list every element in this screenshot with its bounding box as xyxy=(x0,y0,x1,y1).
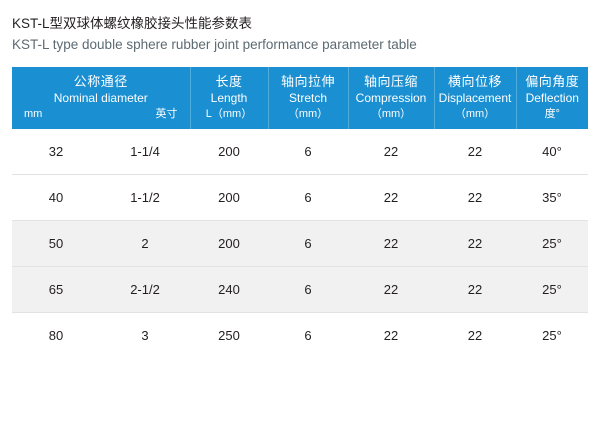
column-header-nominal-diameter: 公称通径 Nominal diameter mm 英寸 xyxy=(12,67,190,129)
cell-deflection: 40° xyxy=(516,129,588,175)
column-unit: （mm） xyxy=(455,106,495,122)
cell-length: 240 xyxy=(190,267,268,313)
cell-deflection: 25° xyxy=(516,313,588,359)
performance-parameter-table: 公称通径 Nominal diameter mm 英寸 长度 Length L（… xyxy=(12,67,588,358)
cell-nominal-diameter-inch: 2 xyxy=(100,221,190,267)
column-header-displacement: 横向位移 Displacement （mm） xyxy=(434,67,516,129)
cell-stretch: 6 xyxy=(268,129,348,175)
cell-nominal-diameter-mm: 40 xyxy=(12,175,100,221)
cell-displacement: 22 xyxy=(434,267,516,313)
cell-length: 200 xyxy=(190,129,268,175)
column-header-en: Nominal diameter xyxy=(54,90,148,106)
cell-nominal-diameter-inch: 2-1/2 xyxy=(100,267,190,313)
column-unit: 度° xyxy=(545,106,560,122)
column-header-cn: 轴向拉伸 xyxy=(281,74,335,90)
column-header-cn: 横向位移 xyxy=(448,74,502,90)
table-row: 80 3 250 6 22 22 25° xyxy=(12,313,588,359)
column-header-deflection: 偏向角度 Deflection 度° xyxy=(516,67,588,129)
cell-deflection: 25° xyxy=(516,267,588,313)
cell-stretch: 6 xyxy=(268,313,348,359)
cell-nominal-diameter-inch: 1-1/2 xyxy=(100,175,190,221)
spec-sheet-page: KST-L型双球体螺纹橡胶接头性能参数表 KST-L type double s… xyxy=(0,0,600,436)
column-header-en: Displacement xyxy=(439,90,512,106)
cell-compression: 22 xyxy=(348,129,434,175)
table-body: 32 1-1/4 200 6 22 22 40° 40 1-1/2 200 6 … xyxy=(12,129,588,358)
column-header-en: Length xyxy=(211,90,248,106)
cell-stretch: 6 xyxy=(268,267,348,313)
column-header-compression: 轴向压缩 Compression （mm） xyxy=(348,67,434,129)
cell-displacement: 22 xyxy=(434,129,516,175)
cell-deflection: 25° xyxy=(516,221,588,267)
column-header-length: 长度 Length L（mm） xyxy=(190,67,268,129)
table-header-row: 公称通径 Nominal diameter mm 英寸 长度 Length L（… xyxy=(12,67,588,129)
cell-compression: 22 xyxy=(348,175,434,221)
column-unit: L（mm） xyxy=(206,106,252,122)
page-title-cn: KST-L型双球体螺纹橡胶接头性能参数表 xyxy=(12,14,600,34)
cell-compression: 22 xyxy=(348,313,434,359)
cell-length: 250 xyxy=(190,313,268,359)
column-unit: （mm） xyxy=(371,106,411,122)
column-header-cn: 长度 xyxy=(216,74,243,90)
cell-stretch: 6 xyxy=(268,175,348,221)
cell-length: 200 xyxy=(190,221,268,267)
cell-compression: 22 xyxy=(348,267,434,313)
table-row: 50 2 200 6 22 22 25° xyxy=(12,221,588,267)
cell-nominal-diameter-mm: 50 xyxy=(12,221,100,267)
column-header-en: Compression xyxy=(356,90,427,106)
column-unit-inch: 英寸 xyxy=(156,106,178,122)
cell-nominal-diameter-inch: 3 xyxy=(100,313,190,359)
page-title-en: KST-L type double sphere rubber joint pe… xyxy=(12,35,600,55)
column-header-en: Stretch xyxy=(289,90,327,106)
column-unit-mm: mm xyxy=(24,106,42,122)
cell-compression: 22 xyxy=(348,221,434,267)
cell-deflection: 35° xyxy=(516,175,588,221)
table-row: 65 2-1/2 240 6 22 22 25° xyxy=(12,267,588,313)
cell-stretch: 6 xyxy=(268,221,348,267)
table-header: 公称通径 Nominal diameter mm 英寸 长度 Length L（… xyxy=(12,67,588,129)
column-header-en: Deflection xyxy=(526,90,579,106)
cell-nominal-diameter-mm: 32 xyxy=(12,129,100,175)
column-header-cn: 偏向角度 xyxy=(525,74,579,90)
cell-nominal-diameter-mm: 65 xyxy=(12,267,100,313)
cell-displacement: 22 xyxy=(434,221,516,267)
cell-displacement: 22 xyxy=(434,313,516,359)
column-unit: （mm） xyxy=(288,106,328,122)
title-block: KST-L型双球体螺纹橡胶接头性能参数表 KST-L type double s… xyxy=(0,0,600,55)
cell-nominal-diameter-mm: 80 xyxy=(12,313,100,359)
table-row: 40 1-1/2 200 6 22 22 35° xyxy=(12,175,588,221)
cell-nominal-diameter-inch: 1-1/4 xyxy=(100,129,190,175)
column-header-stretch: 轴向拉伸 Stretch （mm） xyxy=(268,67,348,129)
column-header-cn: 公称通径 xyxy=(74,74,128,90)
cell-displacement: 22 xyxy=(434,175,516,221)
cell-length: 200 xyxy=(190,175,268,221)
column-header-cn: 轴向压缩 xyxy=(364,74,418,90)
table-row: 32 1-1/4 200 6 22 22 40° xyxy=(12,129,588,175)
